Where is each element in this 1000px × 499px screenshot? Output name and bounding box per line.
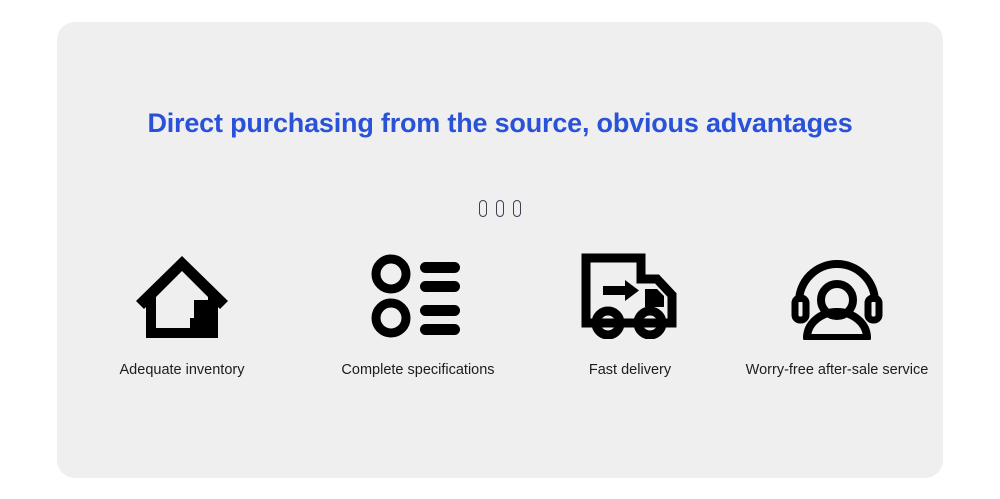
feature-item-fast-delivery: Fast delivery xyxy=(529,250,731,378)
feature-item-adequate-inventory: Adequate inventory xyxy=(57,250,307,378)
divider-pill-icon xyxy=(496,200,504,217)
feature-label: Fast delivery xyxy=(589,362,671,378)
feature-item-complete-specifications: Complete specifications xyxy=(307,250,529,378)
customer-service-headset-icon xyxy=(789,250,885,342)
divider-pill-icon xyxy=(479,200,487,217)
title-divider xyxy=(57,200,943,217)
feature-label: Worry-free after-sale service xyxy=(746,362,929,378)
promo-panel: Direct purchasing from the source, obvio… xyxy=(57,22,943,478)
delivery-truck-icon xyxy=(581,250,679,342)
feature-label: Adequate inventory xyxy=(120,362,245,378)
warehouse-house-boxes-icon xyxy=(133,250,231,342)
feature-item-after-sale-service: Worry-free after-sale service xyxy=(731,250,943,378)
page-title: Direct purchasing from the source, obvio… xyxy=(57,108,943,139)
feature-row: Adequate inventory Complete specificatio… xyxy=(57,250,943,378)
divider-pill-icon xyxy=(513,200,521,217)
feature-label: Complete specifications xyxy=(341,362,494,378)
specification-list-icon xyxy=(371,250,465,342)
